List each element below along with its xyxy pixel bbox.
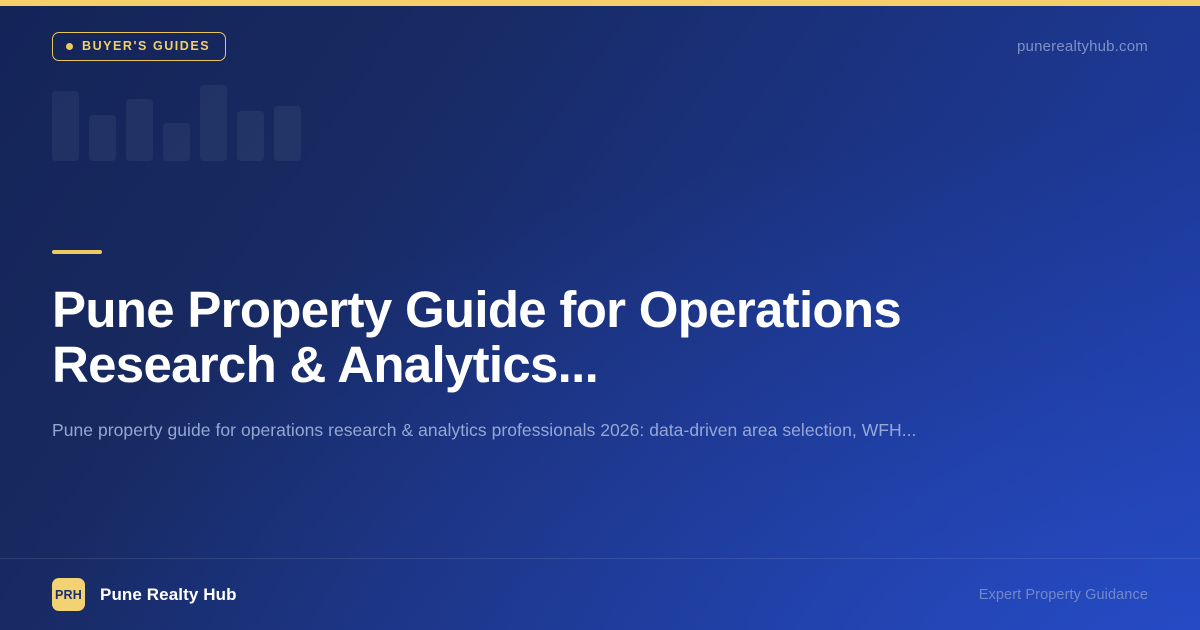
dot-icon [66, 43, 73, 50]
site-url: punerealtyhub.com [1017, 38, 1148, 55]
chart-bar [89, 115, 116, 161]
page-subtitle: Pune property guide for operations resea… [52, 418, 1092, 443]
chart-bar [200, 85, 227, 161]
footer: PRH Pune Realty Hub Expert Property Guid… [0, 559, 1200, 630]
chart-bar [237, 111, 264, 161]
main-content: Pune Property Guide for Operations Resea… [52, 250, 1152, 444]
chart-bar [52, 91, 79, 161]
brand-name: Pune Realty Hub [100, 585, 237, 605]
chart-bar [163, 123, 190, 161]
category-badge[interactable]: BUYER'S GUIDES [52, 32, 226, 61]
chart-bar [274, 106, 301, 161]
page-title: Pune Property Guide for Operations Resea… [52, 282, 1122, 392]
og-card: BUYER'S GUIDES punerealtyhub.com Pune Pr… [0, 0, 1200, 630]
brand[interactable]: PRH Pune Realty Hub [52, 578, 237, 611]
accent-rule [52, 250, 102, 254]
logo-icon: PRH [52, 578, 85, 611]
category-badge-label: BUYER'S GUIDES [82, 40, 210, 53]
footer-tagline: Expert Property Guidance [979, 587, 1148, 603]
decorative-bar-chart [52, 85, 302, 161]
chart-bar [126, 99, 153, 161]
top-accent-bar [0, 0, 1200, 6]
